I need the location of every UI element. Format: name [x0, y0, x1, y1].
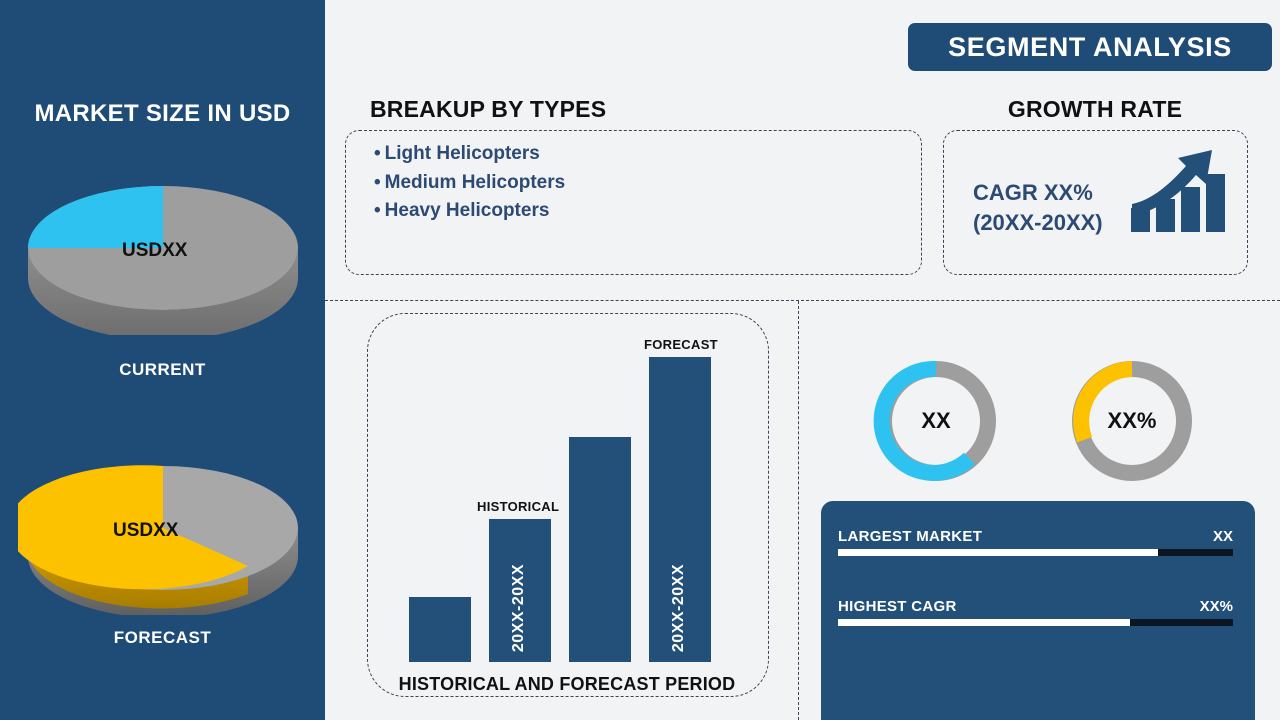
- cagr-period: (20XX-20XX): [973, 208, 1103, 238]
- list-item: •Light Helicopters: [374, 140, 565, 169]
- list-item-label: Medium Helicopters: [385, 172, 566, 193]
- bar-4-period-label: 20XX-20XX: [670, 564, 688, 652]
- largest-market-stat-label: LARGEST MARKET: [838, 528, 982, 545]
- forecast-pie-svg: USDXX: [18, 440, 308, 615]
- cagr-value: CAGR XX%: [973, 178, 1103, 208]
- highest-cagr-progress-track: [838, 619, 1233, 626]
- header-band: SEGMENT ANALYSIS imarc IMPACTFUL INSIGHT…: [325, 0, 1280, 92]
- highest-cagr-stat-top: HIGHEST CAGR XX%: [838, 598, 1233, 615]
- growth-rate-heading: GROWTH RATE: [940, 96, 1250, 123]
- bullet-icon: •: [374, 200, 381, 221]
- breakup-by-types-heading: BREAKUP BY TYPES: [370, 96, 606, 123]
- forecast-pie-caption: FORECAST: [0, 628, 325, 648]
- types-list: •Light Helicopters •Medium Helicopters •…: [374, 140, 565, 226]
- largest-market-progress-track: [838, 549, 1233, 556]
- largest-market-stat-value: XX: [1213, 528, 1233, 545]
- bar-3: [569, 437, 631, 662]
- list-item: •Medium Helicopters: [374, 169, 565, 198]
- bar-2-period-label: 20XX-20XX: [510, 564, 528, 652]
- largest-market-stat-top: LARGEST MARKET XX: [838, 528, 1233, 545]
- highest-cagr-donut-label: XX%: [1069, 358, 1195, 484]
- market-size-panel: MARKET SIZE IN USD USDXX CURRENT: [0, 0, 325, 720]
- page-title: SEGMENT ANALYSIS: [908, 23, 1272, 71]
- historical-forecast-bar-chart: HISTORICAL FORECAST 20XX-20XX 20XX-20XX: [367, 313, 767, 695]
- horizontal-divider: [325, 300, 1280, 301]
- highest-cagr-stat-value: XX%: [1200, 598, 1233, 615]
- vertical-divider: [798, 301, 799, 720]
- page-title-text: SEGMENT ANALYSIS: [948, 32, 1232, 63]
- forecast-pie-chart: USDXX: [0, 440, 325, 615]
- bullet-icon: •: [374, 172, 381, 193]
- largest-market-donut-label: XX: [873, 358, 999, 484]
- cagr-text: CAGR XX% (20XX-20XX): [973, 178, 1103, 238]
- forecast-bar-label: FORECAST: [644, 337, 718, 352]
- current-pie-caption: CURRENT: [0, 360, 325, 380]
- list-item-label: Light Helicopters: [385, 143, 540, 164]
- highest-cagr-progress-fill: [838, 619, 1130, 626]
- growth-arrow-bars-icon: [1128, 142, 1228, 239]
- current-pie-chart: USDXX: [0, 160, 325, 335]
- highest-cagr-stat-label: HIGHEST CAGR: [838, 598, 957, 615]
- current-pie-value-label: USDXX: [122, 240, 188, 261]
- bar-1: [409, 597, 471, 662]
- largest-market-stat: LARGEST MARKET XX: [838, 528, 1233, 556]
- infographic-canvas: MARKET SIZE IN USD USDXX CURRENT: [0, 0, 1280, 720]
- list-item-label: Heavy Helicopters: [385, 200, 550, 221]
- largest-market-progress-fill: [838, 549, 1158, 556]
- list-item: •Heavy Helicopters: [374, 197, 565, 226]
- highest-cagr-stat: HIGHEST CAGR XX%: [838, 598, 1233, 626]
- historical-forecast-caption: HISTORICAL AND FORECAST PERIOD: [367, 674, 767, 695]
- bullet-icon: •: [374, 143, 381, 164]
- historical-bar-label: HISTORICAL: [477, 499, 559, 514]
- forecast-pie-value-label: USDXX: [113, 520, 179, 541]
- current-pie-svg: USDXX: [18, 160, 308, 335]
- market-size-title: MARKET SIZE IN USD: [0, 100, 325, 128]
